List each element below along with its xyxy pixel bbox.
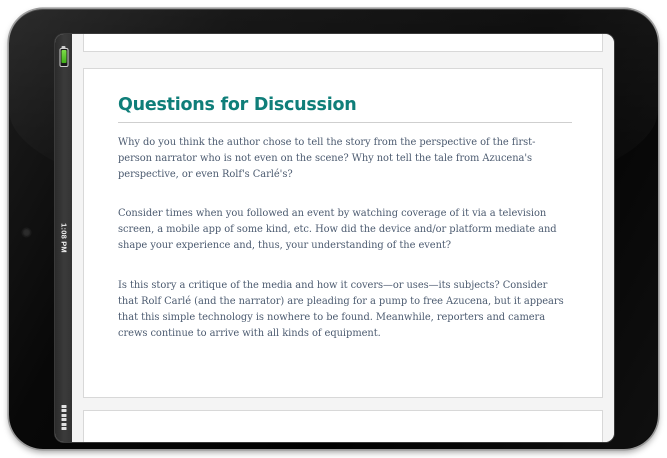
page-content: Questions for Discussion Why do you thin… xyxy=(84,69,602,342)
front-camera-icon xyxy=(22,228,31,237)
battery-fill xyxy=(61,50,66,63)
discussion-question-3: Is this story a critique of the media an… xyxy=(118,278,565,342)
battery-full-icon xyxy=(59,48,68,67)
status-bar-clock: 1:08 PM xyxy=(59,223,68,253)
signal-dot xyxy=(61,414,66,417)
current-page[interactable]: Questions for Discussion Why do you thin… xyxy=(83,68,603,398)
signal-dot xyxy=(61,427,66,430)
tablet-device-frame: 1:08 PM Questions for Discussion xyxy=(9,9,658,449)
signal-dot xyxy=(61,418,66,421)
screenshot-stage: 1:08 PM Questions for Discussion xyxy=(0,0,667,458)
page-title: Questions for Discussion xyxy=(118,96,572,115)
previous-page-partial[interactable] xyxy=(83,34,603,52)
status-bar: 1:08 PM xyxy=(55,34,72,442)
signal-dot xyxy=(61,405,66,408)
next-page-partial[interactable] xyxy=(83,410,603,442)
discussion-question-2: Consider times when you followed an even… xyxy=(118,206,565,254)
signal-dot xyxy=(61,423,66,426)
document-scroll-viewport[interactable]: Questions for Discussion Why do you thin… xyxy=(72,34,614,442)
tablet-screen: 1:08 PM Questions for Discussion xyxy=(55,34,614,442)
signal-dots-icon xyxy=(61,405,66,431)
signal-dot xyxy=(61,409,66,412)
question-list: Why do you think the author chose to tel… xyxy=(118,135,572,341)
discussion-question-1: Why do you think the author chose to tel… xyxy=(118,135,565,183)
title-divider xyxy=(118,122,572,123)
